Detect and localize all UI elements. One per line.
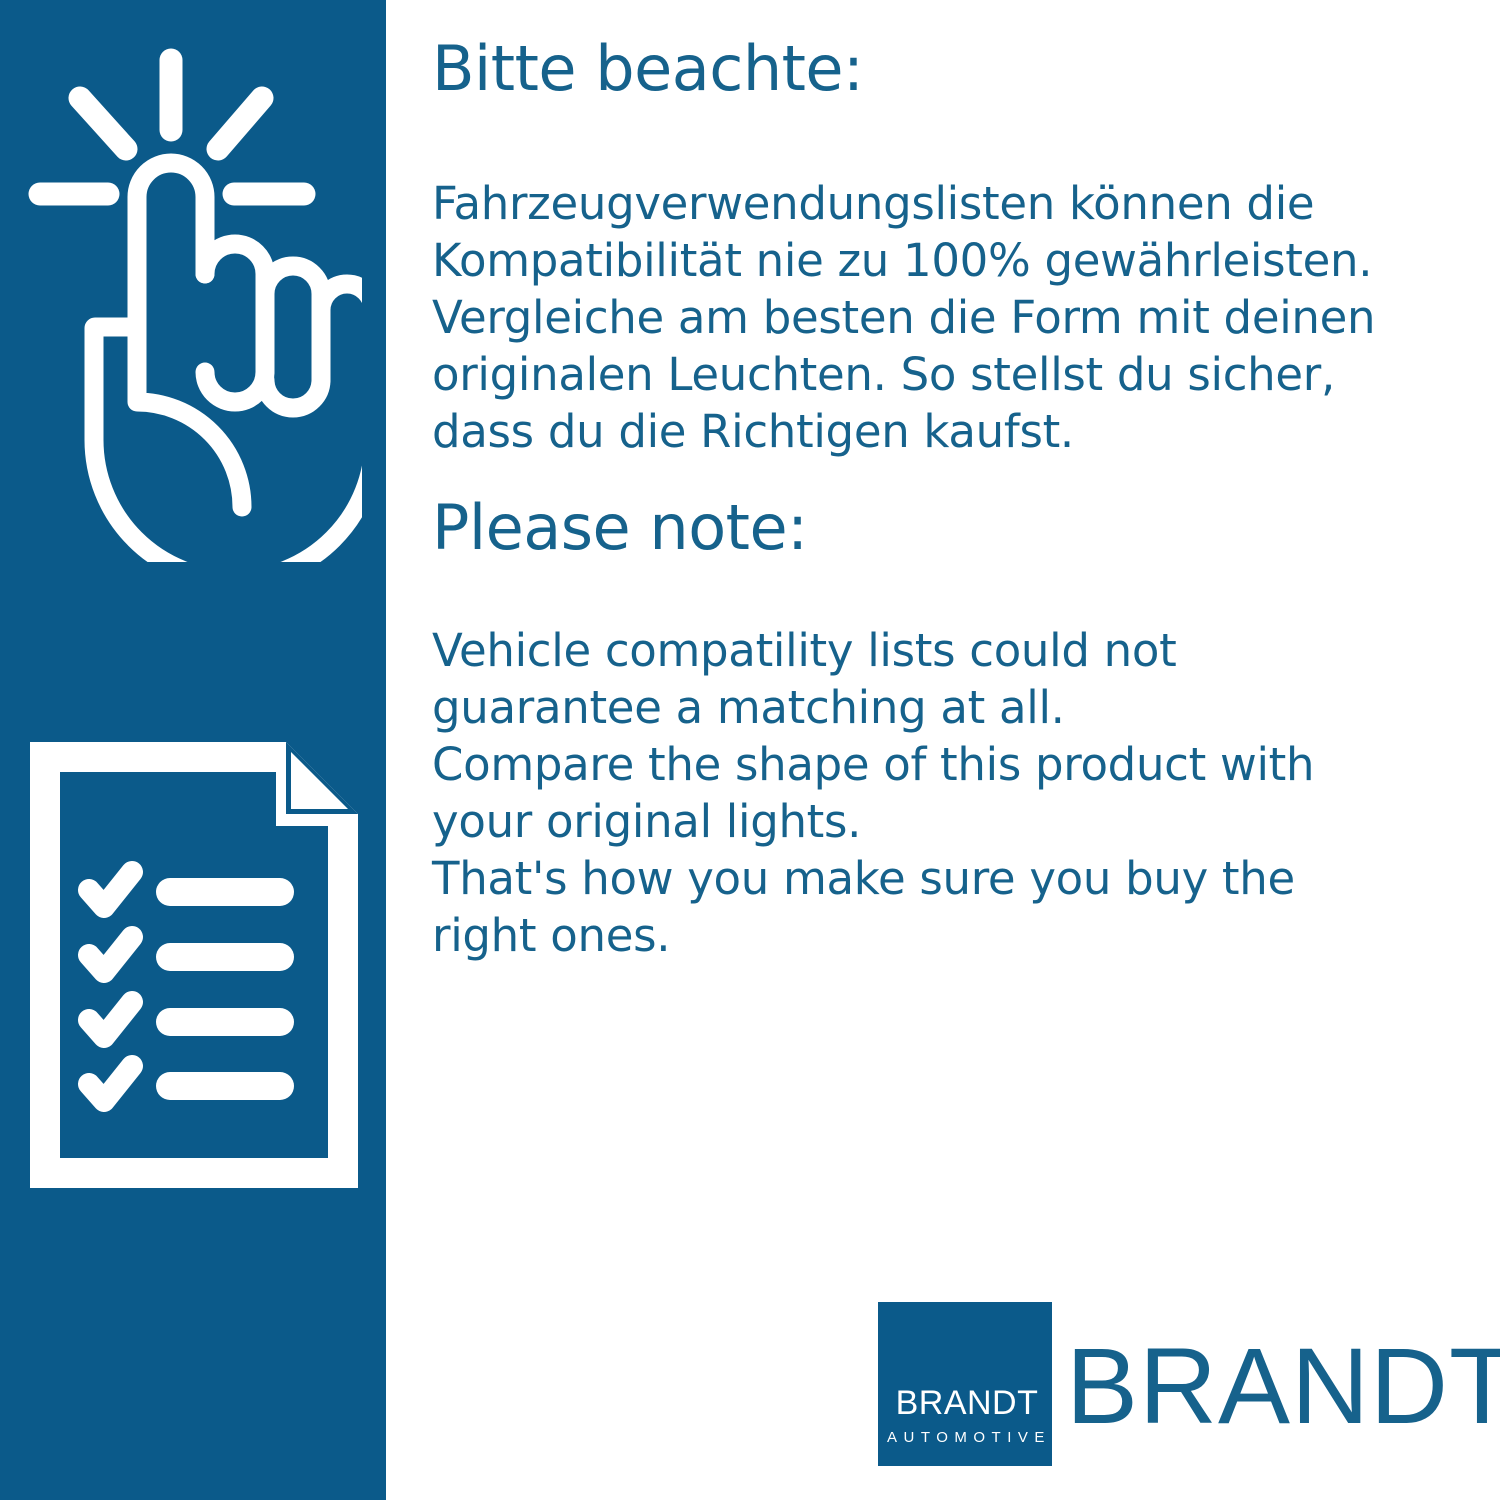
german-line: dass du die Richtigen kaufst. bbox=[432, 403, 1442, 460]
logo-wordmark-text: BRANDT bbox=[1066, 1332, 1500, 1440]
german-line: originalen Leuchten. So stellst du siche… bbox=[432, 346, 1442, 403]
german-line: Vergleiche am besten die Form mit deinen bbox=[432, 289, 1442, 346]
logo-mark-automotive-text: AUTOMOTIVE bbox=[887, 1430, 1047, 1445]
icon-sidebar bbox=[0, 0, 386, 1500]
german-paragraph: Fahrzeugverwendungslisten können die Kom… bbox=[432, 175, 1442, 460]
logo-mark-square: BRANDT AUTOMOTIVE bbox=[878, 1302, 1052, 1466]
english-paragraph: Vehicle compatility lists could not guar… bbox=[432, 622, 1442, 964]
notice-banner: Bitte beachte: Fahrzeugverwendungslisten… bbox=[0, 0, 1500, 1500]
brandt-logo: BRANDT AUTOMOTIVE BRANDT bbox=[878, 1302, 1448, 1470]
notice-text-area: Bitte beachte: Fahrzeugverwendungslisten… bbox=[386, 0, 1500, 1500]
english-line: your original lights. bbox=[432, 793, 1442, 850]
pointing-hand-click-icon bbox=[22, 42, 362, 562]
english-line: right ones. bbox=[432, 907, 1442, 964]
english-heading: Please note: bbox=[432, 497, 807, 559]
german-line: Kompatibilität nie zu 100% gewährleisten… bbox=[432, 232, 1442, 289]
logo-mark-brandt-text: BRANDT bbox=[887, 1386, 1047, 1420]
checklist-document-icon bbox=[14, 730, 374, 1200]
english-line: guarantee a matching at all. bbox=[432, 679, 1442, 736]
english-line: Compare the shape of this product with bbox=[432, 736, 1442, 793]
english-line: That's how you make sure you buy the bbox=[432, 850, 1442, 907]
german-heading: Bitte beachte: bbox=[432, 38, 863, 100]
english-line: Vehicle compatility lists could not bbox=[432, 622, 1442, 679]
german-line: Fahrzeugverwendungslisten können die bbox=[432, 175, 1442, 232]
